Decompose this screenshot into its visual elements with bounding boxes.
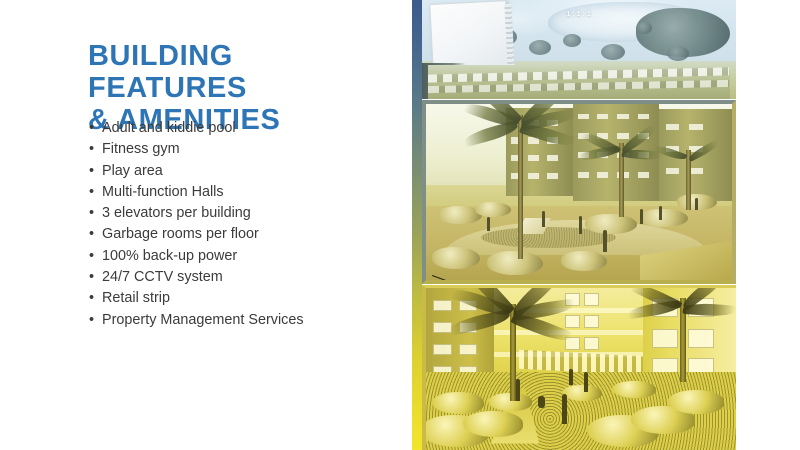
- lowrise-building-row: [428, 65, 729, 99]
- person-figure: [516, 379, 520, 401]
- person-figure: [562, 394, 567, 424]
- aerial-masterplan-image: 1:1:1: [422, 0, 736, 99]
- person-figure: [538, 396, 545, 408]
- bullet-icon: •: [89, 118, 94, 139]
- tree-icon: [563, 34, 581, 47]
- shrub-icon: [612, 381, 656, 398]
- slide-canvas: BUILDING FEATURES & AMENITIES • Adult an…: [0, 0, 800, 450]
- list-item: • Play area: [88, 161, 400, 182]
- list-item-label: Retail strip: [102, 290, 170, 306]
- bullet-icon: •: [89, 310, 94, 331]
- person-figure: [569, 369, 573, 385]
- list-item: • 3 elevators per building: [88, 203, 400, 224]
- list-item-label: Property Management Services: [102, 312, 304, 328]
- shrub-icon: [640, 209, 688, 227]
- list-item: • Retail strip: [88, 288, 400, 309]
- person-figure: [584, 372, 588, 392]
- shrub-icon: [561, 251, 607, 271]
- person-figure: [659, 206, 662, 220]
- shrub-icon: [487, 251, 543, 275]
- tree-icon: [601, 44, 625, 60]
- person-figure: [579, 216, 582, 234]
- list-item: • Garbage rooms per floor: [88, 224, 400, 245]
- tree-icon: [636, 22, 652, 34]
- shrub-icon: [562, 385, 602, 401]
- amenities-bullet-list: • Adult and kiddie pool • Fitness gym • …: [88, 118, 400, 331]
- bullet-icon: •: [89, 182, 94, 203]
- garden-scene: [426, 288, 736, 450]
- aerial-overlay-label: 1:1:1: [566, 11, 592, 18]
- list-item: • Fitness gym: [88, 139, 400, 160]
- list-item: • 24/7 CCTV system: [88, 267, 400, 288]
- shrub-icon: [475, 202, 511, 217]
- person-figure: [695, 198, 698, 210]
- list-item-label: Fitness gym: [102, 141, 180, 157]
- list-item: • Multi-function Halls: [88, 182, 400, 203]
- list-item-label: 3 elevators per building: [102, 205, 251, 221]
- list-item: • Property Management Services: [88, 310, 400, 331]
- palm-tree: [518, 115, 523, 259]
- list-item-label: Adult and kiddie pool: [102, 120, 236, 136]
- accent-gradient-strip: [412, 0, 422, 450]
- list-item-label: Garbage rooms per floor: [102, 226, 259, 242]
- person-figure: [542, 211, 545, 227]
- shrub-icon: [585, 214, 637, 234]
- building-roof-plan: [430, 0, 511, 73]
- bullet-icon: •: [89, 161, 94, 182]
- list-item-label: 24/7 CCTV system: [102, 269, 223, 285]
- bullet-icon: •: [89, 288, 94, 309]
- bullet-icon: •: [89, 139, 94, 160]
- shrub-icon: [463, 411, 523, 437]
- tree-icon: [667, 46, 689, 61]
- bullet-icon: •: [89, 246, 94, 267]
- aerial-scene: 1:1:1: [422, 0, 736, 99]
- list-item-label: Multi-function Halls: [102, 184, 224, 200]
- tree-icon: [529, 40, 551, 55]
- person-figure: [603, 230, 607, 252]
- list-item: • 100% back-up power: [88, 246, 400, 267]
- bullet-icon: •: [89, 267, 94, 288]
- courtyard-playground-image: [422, 100, 736, 284]
- list-item: • Adult and kiddie pool: [88, 118, 400, 139]
- courtyard-scene: [426, 104, 732, 280]
- person-figure: [487, 217, 490, 231]
- bullet-icon: •: [89, 224, 94, 245]
- bullet-icon: •: [89, 203, 94, 224]
- image-column: 1:1:1: [408, 0, 800, 450]
- person-figure: [640, 209, 643, 224]
- list-item-label: 100% back-up power: [102, 248, 237, 264]
- garden-court-image: [422, 285, 736, 450]
- list-item-label: Play area: [102, 163, 163, 179]
- text-column: BUILDING FEATURES & AMENITIES • Adult an…: [0, 0, 408, 450]
